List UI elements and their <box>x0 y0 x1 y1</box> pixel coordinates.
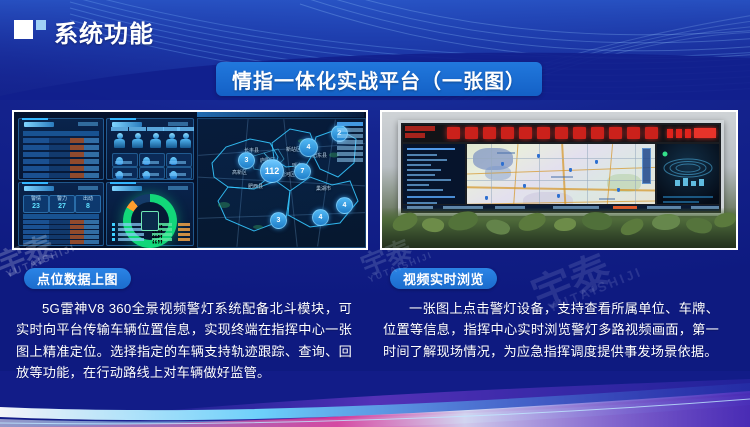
square-marker-small-icon <box>36 20 46 30</box>
map-pin-icon <box>501 162 504 166</box>
table-row <box>23 225 99 229</box>
map-cluster-marker[interactable]: 4 <box>336 197 353 214</box>
officer-icon <box>131 133 144 150</box>
kpi-card <box>112 167 138 179</box>
panel-duty-stats: 警情 23 警力 27 出动 8 <box>18 182 104 246</box>
map-pin-icon <box>523 184 526 188</box>
section-body-point-data: 5G雷神V8 360全景视频警灯系统配备北斗模块，可实时向平台传输车辆位置信息，… <box>16 298 352 384</box>
officer-icon <box>113 133 126 150</box>
map-cluster-marker[interactable]: 3 <box>238 152 255 169</box>
section-heading-label: 视频实时浏览 <box>403 269 484 288</box>
map-cluster-marker-main[interactable]: 112 <box>260 159 284 183</box>
map-pin-icon <box>595 160 598 164</box>
section-heading-label: 点位数据上图 <box>37 269 118 288</box>
table-row <box>23 152 99 157</box>
map-text-line <box>497 152 515 154</box>
legend-entry[interactable] <box>337 128 363 132</box>
map-label: 肥西县 <box>248 183 263 190</box>
legend-entry[interactable] <box>337 152 363 156</box>
map-label: 高新区 <box>232 169 247 176</box>
stat-value: 23 <box>24 203 48 211</box>
section-body-live-video: 一张图上点击警灯设备，支持查看所属单位、车牌、位置等信息，指挥中心实时浏览警灯多… <box>383 298 719 362</box>
legend-entry[interactable] <box>337 140 363 144</box>
map-pin-icon <box>569 168 572 172</box>
map-pin-icon <box>557 194 560 198</box>
map-cluster-marker[interactable]: 3 <box>270 212 287 229</box>
map-road <box>467 180 655 181</box>
panel-device-online-rate <box>106 182 194 246</box>
gis-map-canvas[interactable]: 长丰县 庐阳区 新站区 肥东县 瑶海 高新区 包河区 肥西县 巢湖市 2 4 3… <box>197 118 366 248</box>
legend-item <box>112 233 192 237</box>
legend-item <box>112 238 192 242</box>
panel-subtitle-bar <box>78 186 98 190</box>
wall-panel-left <box>403 144 465 204</box>
kpi-card <box>139 153 165 167</box>
panel-title-bar <box>112 186 142 191</box>
map-text-line <box>551 176 573 178</box>
stat-tile: 警情 23 <box>23 195 49 213</box>
section-heading-live-video: 视频实时浏览 <box>390 268 497 289</box>
stat-value: 27 <box>50 203 74 211</box>
map-cluster-marker[interactable]: 4 <box>312 209 329 226</box>
map-road <box>539 144 540 204</box>
map-cluster-marker[interactable]: 4 <box>299 138 318 157</box>
map-pin-icon <box>537 154 540 158</box>
panel-subtitle-bar <box>78 122 98 126</box>
slide-header: 系统功能 <box>0 0 750 56</box>
gis-screenshot-frame[interactable]: 警情 23 警力 27 出动 8 <box>12 110 368 250</box>
page-title: 系统功能 <box>54 14 154 49</box>
kpi-card <box>166 153 192 167</box>
wall-panel-right <box>657 144 719 204</box>
legend-entry[interactable] <box>337 146 363 150</box>
stat-tile: 警力 27 <box>49 195 75 213</box>
table-row <box>23 166 99 171</box>
gis-dashboard-screenshot: 警情 23 警力 27 出动 8 <box>14 112 366 248</box>
legend-entry[interactable] <box>337 134 363 138</box>
map-layer-legend[interactable] <box>337 122 363 164</box>
map-text-line <box>599 198 615 200</box>
section-heading-point-data: 点位数据上图 <box>24 268 131 289</box>
table-header-row <box>23 131 99 136</box>
kpi-card <box>166 167 192 179</box>
panel-title-bar <box>24 122 54 127</box>
kpi-card <box>112 153 138 167</box>
platform-banner: 情指一体化实战平台（一张图） <box>216 62 542 96</box>
map-scrollbar[interactable] <box>642 148 651 184</box>
led-marquee <box>403 125 719 142</box>
map-road <box>587 144 588 204</box>
table-row <box>23 220 99 224</box>
video-wall <box>398 120 724 216</box>
map-road <box>606 144 613 204</box>
panel-alarm-list <box>18 118 104 180</box>
table-row <box>23 240 99 244</box>
kpi-card <box>139 167 165 179</box>
device-icon <box>141 211 159 231</box>
map-toolbar <box>197 112 364 117</box>
officer-icon <box>149 133 162 150</box>
map-label: 巢湖市 <box>316 185 331 192</box>
square-marker-large-icon <box>14 20 33 39</box>
map-road <box>635 144 636 204</box>
media-row: 警情 23 警力 27 出动 8 <box>0 110 750 250</box>
table-row <box>23 138 99 143</box>
map-cluster-marker[interactable]: 7 <box>294 163 311 180</box>
stat-value: 8 <box>76 203 100 211</box>
map-road <box>491 144 492 204</box>
panel-subtitle-bar <box>168 122 188 126</box>
panel-title-bar <box>24 186 54 191</box>
officer-icon <box>179 133 192 150</box>
panel-subtitle-bar <box>168 186 188 190</box>
legend-entry[interactable] <box>337 122 363 126</box>
table-row <box>23 159 99 164</box>
led-clock <box>405 126 441 141</box>
command-center-photo <box>382 112 736 248</box>
wall-panel-map <box>467 144 655 204</box>
led-welcome <box>667 128 716 138</box>
legend-entry[interactable] <box>337 158 363 162</box>
table-row <box>23 235 99 239</box>
table-header-row <box>23 214 99 219</box>
map-pin-icon <box>617 188 620 192</box>
map-pin-icon <box>485 196 488 200</box>
led-headline <box>447 127 658 139</box>
table-row <box>23 230 99 234</box>
panel-force-deployment <box>106 118 194 180</box>
map-road <box>467 158 655 159</box>
stat-tile: 出动 8 <box>75 195 101 213</box>
table-row <box>23 173 99 178</box>
officer-icon <box>165 133 178 150</box>
platform-banner-label: 情指一体化实战平台（一张图） <box>232 65 526 94</box>
command-center-photo-frame[interactable] <box>380 110 738 250</box>
table-row <box>23 145 99 150</box>
planter-hedge <box>382 208 736 248</box>
